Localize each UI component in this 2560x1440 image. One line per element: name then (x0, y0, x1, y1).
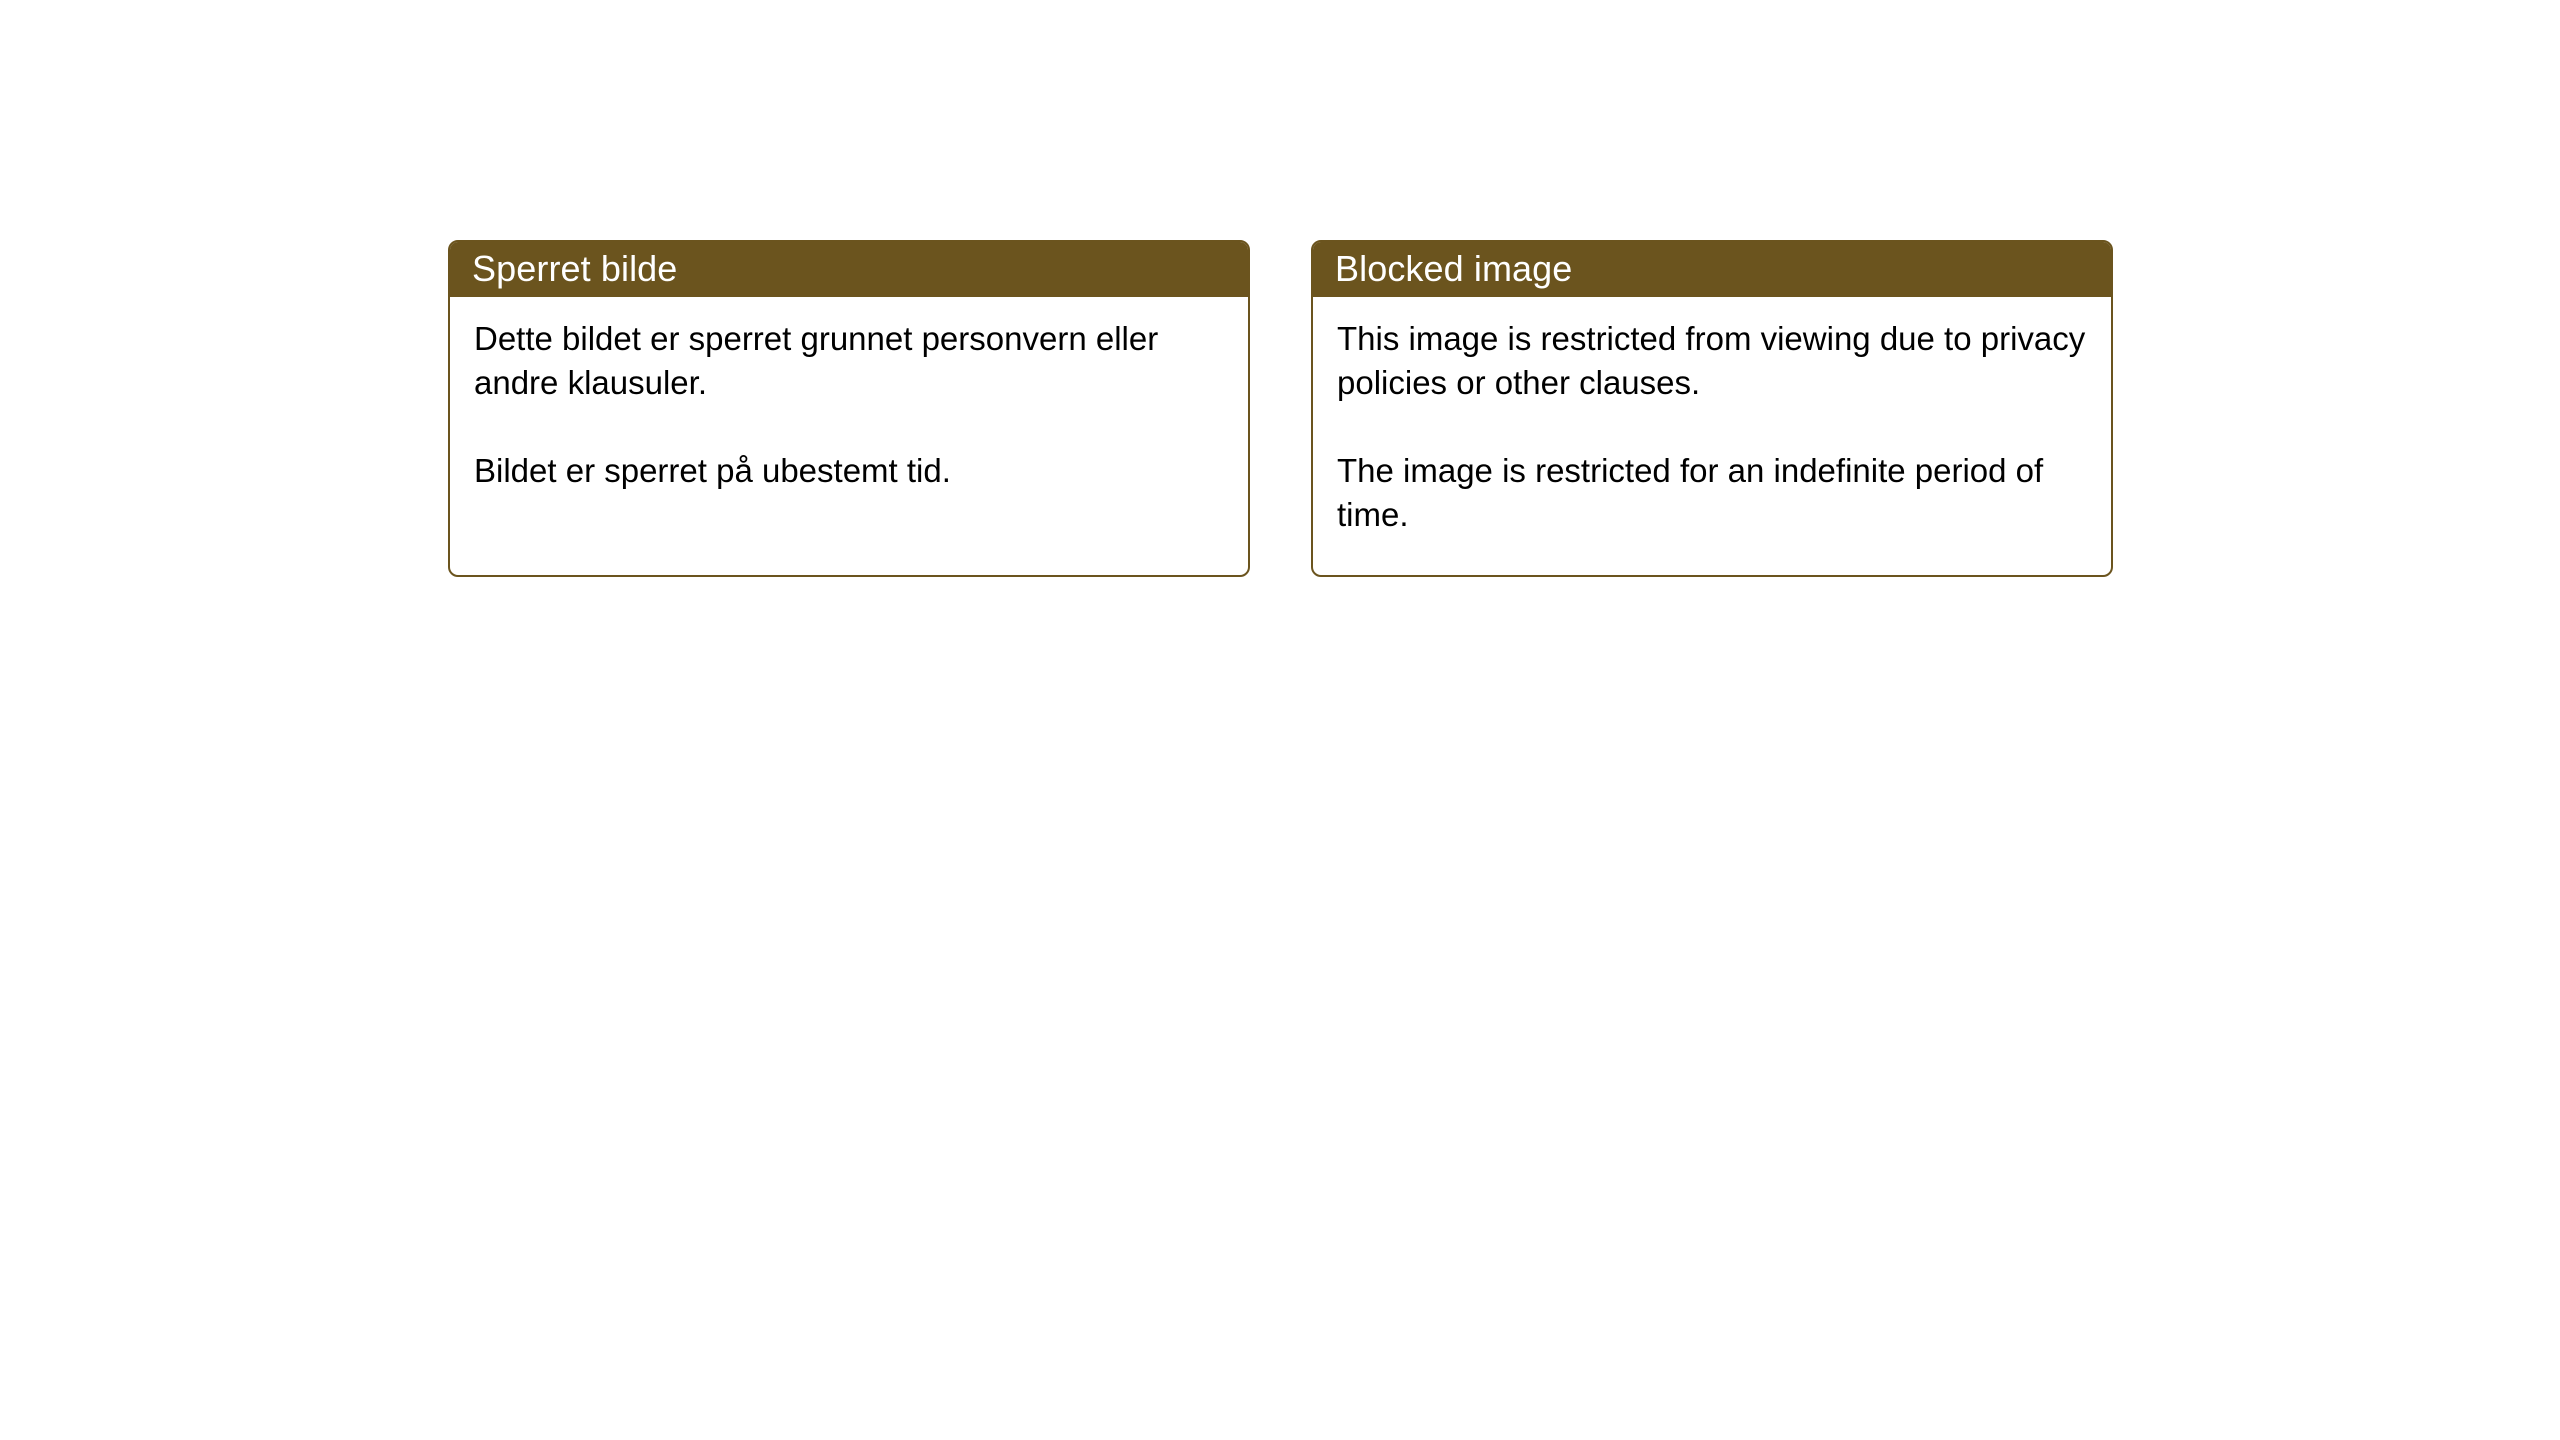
card-paragraph-english-2: The image is restricted for an indefinit… (1337, 449, 2089, 537)
card-body-english: This image is restricted from viewing du… (1313, 297, 2111, 575)
blocked-image-card-english: Blocked image This image is restricted f… (1311, 240, 2113, 577)
card-paragraph-norwegian-1: Dette bildet er sperret grunnet personve… (474, 317, 1226, 405)
blocked-image-notice-group: Sperret bilde Dette bildet er sperret gr… (448, 240, 2113, 577)
card-paragraph-norwegian-2: Bildet er sperret på ubestemt tid. (474, 449, 1226, 493)
card-paragraph-english-1: This image is restricted from viewing du… (1337, 317, 2089, 405)
card-body-norwegian: Dette bildet er sperret grunnet personve… (450, 297, 1248, 575)
card-title-norwegian: Sperret bilde (472, 249, 677, 289)
card-title-english: Blocked image (1335, 249, 1572, 289)
blocked-image-card-norwegian: Sperret bilde Dette bildet er sperret gr… (448, 240, 1250, 577)
card-header-norwegian: Sperret bilde (448, 240, 1250, 297)
card-header-english: Blocked image (1311, 240, 2113, 297)
